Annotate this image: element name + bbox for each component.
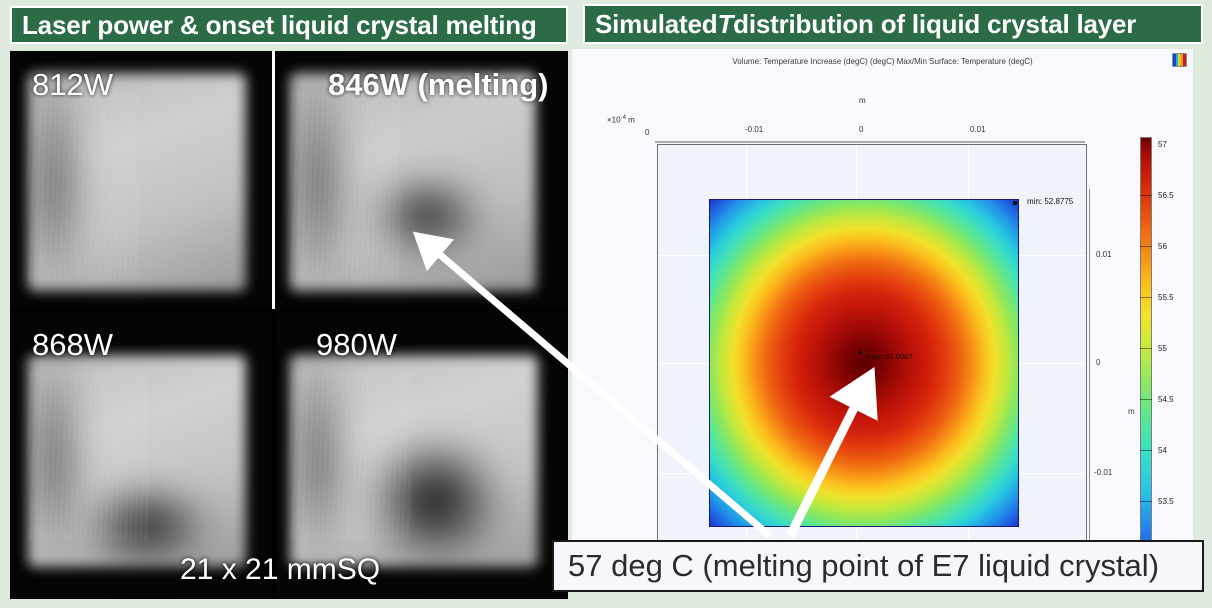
colorbar-tick-4 xyxy=(1140,348,1152,349)
colorbar-thumbnail-icon[interactable] xyxy=(1172,53,1187,67)
header-banner-left: Laser power & onset liquid crystal melti… xyxy=(10,6,568,44)
x-axis-line xyxy=(655,141,1085,143)
colorbar-label-2: 56 xyxy=(1158,242,1167,251)
x-axis-unit-label: m xyxy=(859,96,866,105)
colorbar-tick-7 xyxy=(1140,501,1152,502)
y-tick-0: 0.01 xyxy=(1096,250,1112,259)
y-axis-unit-label: m xyxy=(1128,407,1135,416)
x-scale-exponent: -4 xyxy=(621,115,626,121)
slide-root: Laser power & onset liquid crystal melti… xyxy=(0,0,1212,608)
photo-label-846w: 846W (melting) xyxy=(328,67,548,103)
photo-label-812w: 812W xyxy=(32,67,113,103)
plot-right-divider xyxy=(1089,189,1090,577)
callout-text: 57 deg C (melting point of E7 liquid cry… xyxy=(568,548,1159,584)
max-point-marker xyxy=(859,351,862,354)
colorbar-tick-1 xyxy=(1140,195,1152,196)
melting-point-callout: 57 deg C (melting point of E7 liquid cry… xyxy=(552,540,1204,592)
x-tick-1: 0 xyxy=(859,125,863,134)
y-axis-labels: 0.01 0 -0.01 xyxy=(1090,144,1130,549)
sample-size-label: 21 x 21 mmSQ xyxy=(180,553,380,587)
colorbar-label-3: 55.5 xyxy=(1158,293,1174,302)
max-annotation-label: max: 57.0967 xyxy=(867,352,912,361)
thermal-photo-846w[interactable]: 846W (melting) xyxy=(276,51,568,309)
x-scale-mantissa: ×10 xyxy=(607,116,621,125)
header-right-text-pre: Simulated xyxy=(595,9,717,40)
plate-streaks xyxy=(290,371,410,541)
plate-streaks xyxy=(290,91,400,281)
colorbar-label-5: 54.5 xyxy=(1158,395,1174,404)
comsol-plot-panel[interactable]: Volume: Temperature Increase (degC) (deg… xyxy=(572,49,1193,577)
photo-separator xyxy=(272,51,275,309)
x-axis-scale-label: ×10-4 m xyxy=(607,115,635,125)
colorbar-label-0: 57 xyxy=(1158,140,1167,149)
header-right-text-post: distribution of liquid crystal layer xyxy=(733,9,1136,40)
colorbar-tick-5 xyxy=(1140,399,1152,400)
x-scale-unit: m xyxy=(628,116,635,125)
thermal-photo-812w[interactable]: 812W xyxy=(10,51,272,309)
photo-label-868w: 868W xyxy=(32,327,113,363)
photo-label-980w: 980W xyxy=(316,327,397,363)
temperature-colorbar[interactable] xyxy=(1140,137,1152,577)
x-tick-0: -0.01 xyxy=(745,125,763,134)
plate-streaks xyxy=(28,91,138,281)
header-left-text: Laser power & onset liquid crystal melti… xyxy=(22,10,537,41)
colorbar-tick-2 xyxy=(1140,246,1152,247)
colorbar-tick-3 xyxy=(1140,297,1152,298)
heatmap-gradient xyxy=(710,200,1018,526)
header-banner-right: Simulated T distribution of liquid cryst… xyxy=(583,4,1203,44)
plate-streaks xyxy=(28,371,148,541)
min-point-marker xyxy=(1013,201,1017,205)
colorbar-tick-6 xyxy=(1140,450,1152,451)
colorbar-label-1: 56.5 xyxy=(1158,191,1174,200)
min-annotation-label: min: 52.8775 xyxy=(1027,197,1073,206)
temperature-heatmap[interactable]: max: 57.0967 xyxy=(709,199,1019,527)
x-scale-zero: 0 xyxy=(645,128,649,137)
y-tick-2: -0.01 xyxy=(1094,468,1112,477)
colorbar-label-6: 54 xyxy=(1158,446,1167,455)
colorbar-label-7: 53.5 xyxy=(1158,497,1174,506)
x-tick-2: 0.01 xyxy=(970,125,986,134)
colorbar-label-4: 55 xyxy=(1158,344,1167,353)
header-right-text-italic: T xyxy=(717,9,733,40)
thermal-photo-grid: 812W 846W (melting) 868W 980W xyxy=(10,51,568,599)
y-tick-1: 0 xyxy=(1096,358,1100,367)
plot-title: Volume: Temperature Increase (degC) (deg… xyxy=(572,57,1193,66)
